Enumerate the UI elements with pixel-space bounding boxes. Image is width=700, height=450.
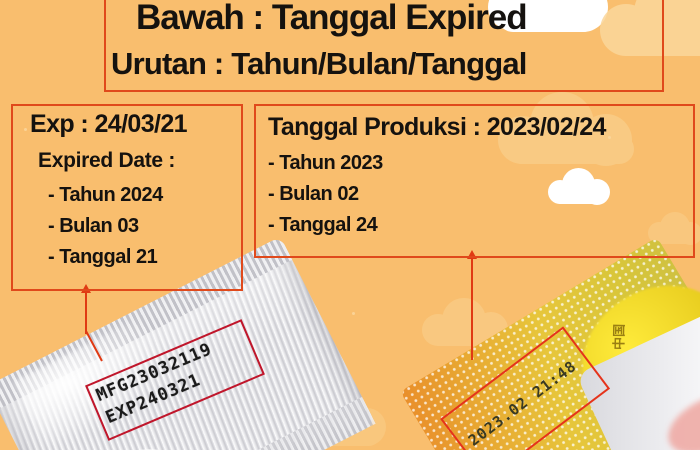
right-callout-item-month: - Bulan 02 (268, 183, 359, 206)
left-callout-item-day: - Tanggal 21 (48, 246, 157, 269)
arrow-line-right (471, 256, 473, 360)
sparkle-dot (352, 312, 355, 315)
left-callout-subheading: Expired Date : (38, 149, 175, 173)
right-callout-item-day: - Tanggal 24 (268, 214, 377, 237)
side-mark-text: 中国 (608, 324, 627, 350)
page-title: Bawah : Tanggal Expired (136, 0, 527, 38)
pink-blob (659, 380, 700, 450)
right-callout-heading: Tanggal Produksi : 2023/02/24 (268, 113, 606, 142)
left-callout-item-month: - Bulan 03 (48, 215, 139, 238)
left-callout-heading: Exp : 24/03/21 (30, 110, 187, 139)
page-subtitle: Urutan : Tahun/Bulan/Tanggal (111, 46, 527, 82)
right-callout-item-year: - Tahun 2023 (268, 152, 383, 175)
left-callout-item-year: - Tahun 2024 (48, 184, 163, 207)
poster-canvas: 乐 MFG23032119 EXP240321 中国 2023.02 21:48… (0, 0, 700, 450)
arrow-line-left (85, 290, 87, 334)
